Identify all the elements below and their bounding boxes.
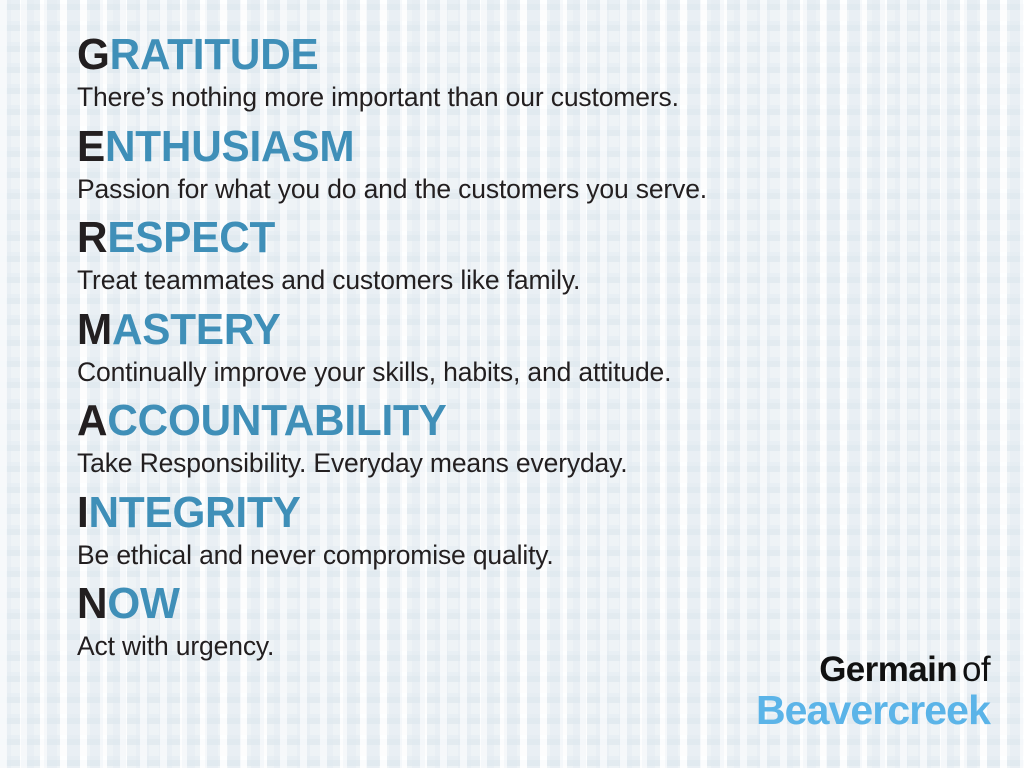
value-initial-letter: E — [77, 122, 105, 171]
value-heading-remainder: ASTERY — [112, 305, 281, 354]
value-initial-letter: A — [77, 396, 107, 445]
value-heading-enthusiasm: ENTHUSIASM — [77, 125, 941, 169]
brand-logo: Germainof Beavercreek — [756, 651, 990, 732]
value-heading-integrity: INTEGRITY — [77, 491, 941, 535]
value-subtitle-gratitude: There’s nothing more important than our … — [77, 82, 977, 112]
value-heading-remainder: RATITUDE — [110, 30, 319, 79]
brand-logo-line-one: Germainof — [756, 651, 990, 688]
value-subtitle-mastery: Continually improve your skills, habits,… — [77, 357, 977, 387]
value-block-accountability: ACCOUNTABILITY Take Responsibility. Ever… — [77, 399, 977, 478]
value-heading-remainder: OW — [107, 579, 179, 628]
value-subtitle-respect: Treat teammates and customers like famil… — [77, 265, 977, 295]
value-block-enthusiasm: ENTHUSIASM Passion for what you do and t… — [77, 125, 977, 204]
value-initial-letter: M — [77, 305, 112, 354]
core-values-list: GRATITUDE There’s nothing more important… — [77, 33, 977, 674]
value-subtitle-accountability: Take Responsibility. Everyday means ever… — [77, 448, 977, 478]
value-heading-remainder: NTEGRITY — [89, 488, 301, 537]
value-heading-remainder: NTHUSIASM — [105, 122, 354, 171]
value-initial-letter: G — [77, 30, 110, 79]
value-block-integrity: INTEGRITY Be ethical and never compromis… — [77, 491, 977, 570]
value-initial-letter: I — [77, 488, 89, 537]
brand-name: Germain — [819, 650, 957, 689]
value-initial-letter: N — [77, 579, 107, 628]
value-subtitle-enthusiasm: Passion for what you do and the customer… — [77, 174, 977, 204]
brand-location: Beavercreek — [756, 689, 990, 732]
value-heading-remainder: ESPECT — [107, 213, 275, 262]
brand-connector: of — [962, 650, 990, 689]
value-block-mastery: MASTERY Continually improve your skills,… — [77, 308, 977, 387]
value-subtitle-integrity: Be ethical and never compromise quality. — [77, 540, 977, 570]
value-heading-accountability: ACCOUNTABILITY — [77, 399, 941, 443]
value-heading-gratitude: GRATITUDE — [77, 33, 941, 77]
value-block-gratitude: GRATITUDE There’s nothing more important… — [77, 33, 977, 112]
value-initial-letter: R — [77, 213, 107, 262]
value-heading-respect: RESPECT — [77, 216, 941, 260]
value-block-respect: RESPECT Treat teammates and customers li… — [77, 216, 977, 295]
value-heading-now: NOW — [77, 582, 941, 626]
value-heading-remainder: CCOUNTABILITY — [107, 396, 446, 445]
values-poster: GRATITUDE There’s nothing more important… — [0, 0, 1024, 768]
value-heading-mastery: MASTERY — [77, 308, 941, 352]
